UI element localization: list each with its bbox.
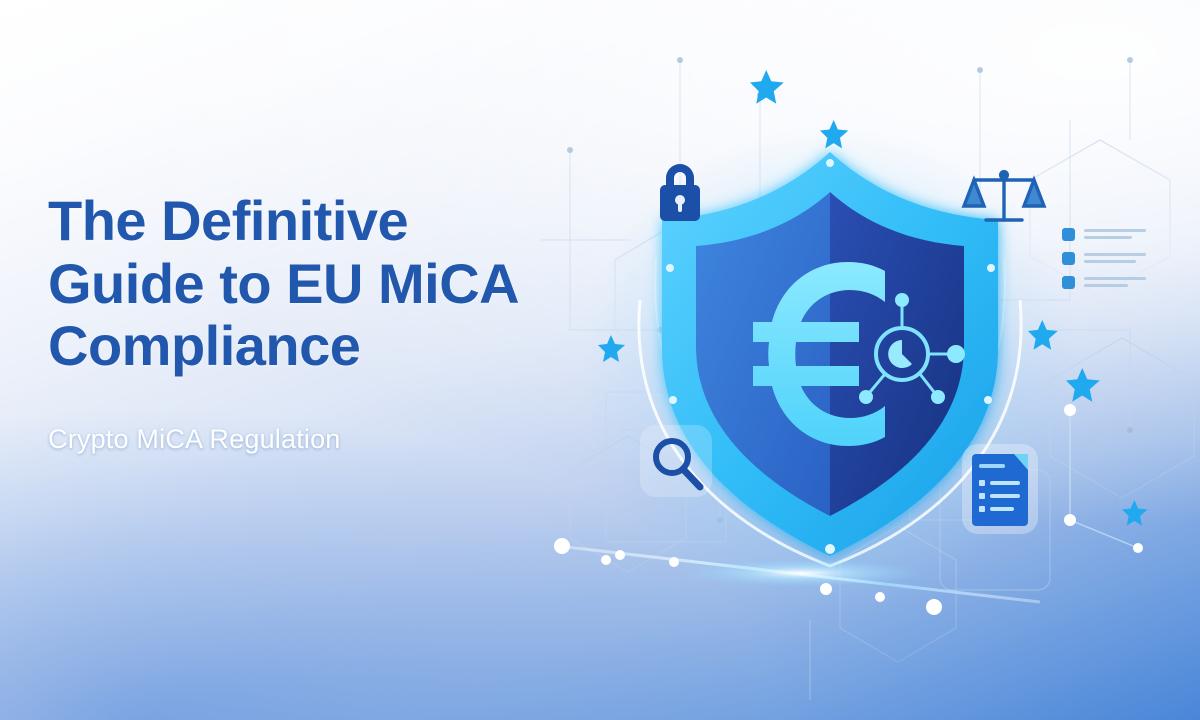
hero-illustration xyxy=(510,0,1200,720)
headline-line-3: Compliance xyxy=(48,315,568,378)
headline-line-2: Guide to EU MiCA xyxy=(48,253,568,316)
headline-line-1: The Definitive xyxy=(48,190,568,253)
subtitle: Crypto MiCA Regulation xyxy=(48,424,568,455)
data-stream-beam xyxy=(510,0,1200,720)
hero-banner: The Definitive Guide to EU MiCA Complian… xyxy=(0,0,1200,720)
headline-block: The Definitive Guide to EU MiCA Complian… xyxy=(48,190,568,455)
page-title: The Definitive Guide to EU MiCA Complian… xyxy=(48,190,568,378)
